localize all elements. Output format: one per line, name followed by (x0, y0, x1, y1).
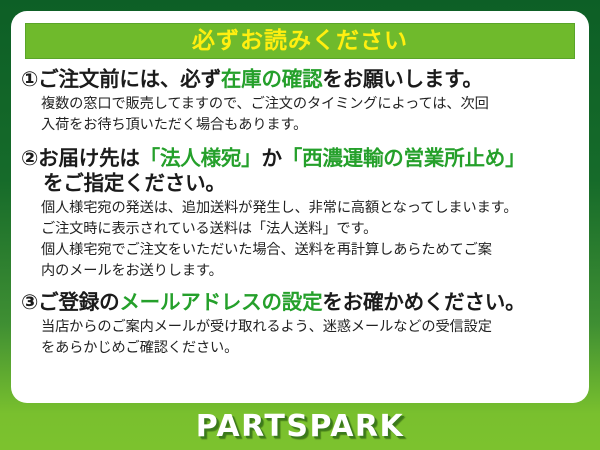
notice-item-1-body: 複数の窓口で販売してますので、ご注文のタイミングによっては、次回 入荷をお待ち頂… (21, 94, 581, 137)
notice-card: 必ずお読みください ①ご注文前には、必ず在庫の確認をお願いします。 複数の窓口で… (11, 11, 589, 403)
notice-item-1-heading-highlight: 在庫の確認 (221, 67, 323, 91)
notice-item-3: ③ご登録のメールアドレスの設定をお確かめください。 当店からのご案内メールが受け… (11, 290, 589, 360)
notice-item-1: ①ご注文前には、必ず在庫の確認をお願いします。 複数の窓口で販売してますので、ご… (11, 67, 589, 137)
notice-item-3-body: 当店からのご案内メールが受け取れるよう、迷惑メールなどの受信設定 をあらかじめご… (21, 317, 581, 360)
notice-item-2-heading-highlight-1: 「西濃運輸の営業所止め」 (282, 146, 526, 170)
notice-item-2-heading-part-0: お届け先は (38, 146, 140, 170)
notice-item-3-heading: ③ご登録のメールアドレスの設定をお確かめください。 (21, 290, 581, 315)
notice-item-2-marker: ② (21, 146, 38, 170)
notice-item-2-heading-line2: をご指定ください。 (21, 171, 581, 196)
notice-item-1-marker: ① (21, 67, 38, 91)
banner-title: 必ずお読みください (192, 30, 408, 53)
notice-frame: 必ずお読みください ①ご注文前には、必ず在庫の確認をお願いします。 複数の窓口で… (0, 0, 600, 450)
notice-item-1-body-line-0: 複数の窓口で販売してますので、ご注文のタイミングによっては、次回 (41, 94, 581, 115)
notice-item-1-heading-part-2: をお願いします。 (322, 67, 482, 91)
notice-item-2-heading-part-2: か (261, 146, 281, 170)
brand-logo-text: PARTSPARK (196, 412, 405, 442)
notice-item-3-heading-highlight: メールアドレスの設定 (119, 290, 322, 314)
notice-item-1-heading: ①ご注文前には、必ず在庫の確認をお願いします。 (21, 67, 581, 92)
notice-item-2-body-line-3: 内のメールをお送りします。 (41, 261, 581, 282)
notice-item-3-heading-part-0: ご登録の (38, 290, 119, 314)
notice-item-2-heading: ②お届け先は「法人様宛」か「西濃運輸の営業所止め」 (21, 146, 581, 171)
notice-item-1-heading-part-0: ご注文前には、必ず (38, 67, 221, 91)
notice-item-2-body-line-1: ご注文時に表示されている送料は「法人送料」です。 (41, 219, 581, 240)
notice-item-2: ②お届け先は「法人様宛」か「西濃運輸の営業所止め」 をご指定ください。 個人様宅… (11, 146, 589, 283)
notice-item-1-body-line-1: 入荷をお待ち頂いただく場合もあります。 (41, 115, 581, 136)
notice-item-3-body-line-0: 当店からのご案内メールが受け取れるよう、迷惑メールなどの受信設定 (41, 317, 581, 338)
notice-item-2-heading-highlight-0: 「法人様宛」 (140, 146, 262, 170)
notice-item-3-body-line-1: をあらかじめご確認ください。 (41, 338, 581, 359)
notice-item-list: ①ご注文前には、必ず在庫の確認をお願いします。 複数の窓口で販売してますので、ご… (11, 67, 589, 359)
footer-brand-bar: PARTSPARK (0, 403, 600, 450)
notice-item-2-body-line-0: 個人様宅宛の発送は、追加送料が発生し、非常に高額となってしまいます。 (41, 198, 581, 219)
notice-item-3-marker: ③ (21, 290, 38, 314)
notice-item-3-heading-part-2: をお確かめください。 (322, 290, 525, 314)
notice-item-2-body-line-2: 個人様宅宛でご注文をいただいた場合、送料を再計算しあらためてご案 (41, 240, 581, 261)
notice-item-2-body: 個人様宅宛の発送は、追加送料が発生し、非常に高額となってしまいます。 ご注文時に… (21, 198, 581, 283)
title-banner: 必ずお読みください (25, 23, 575, 59)
